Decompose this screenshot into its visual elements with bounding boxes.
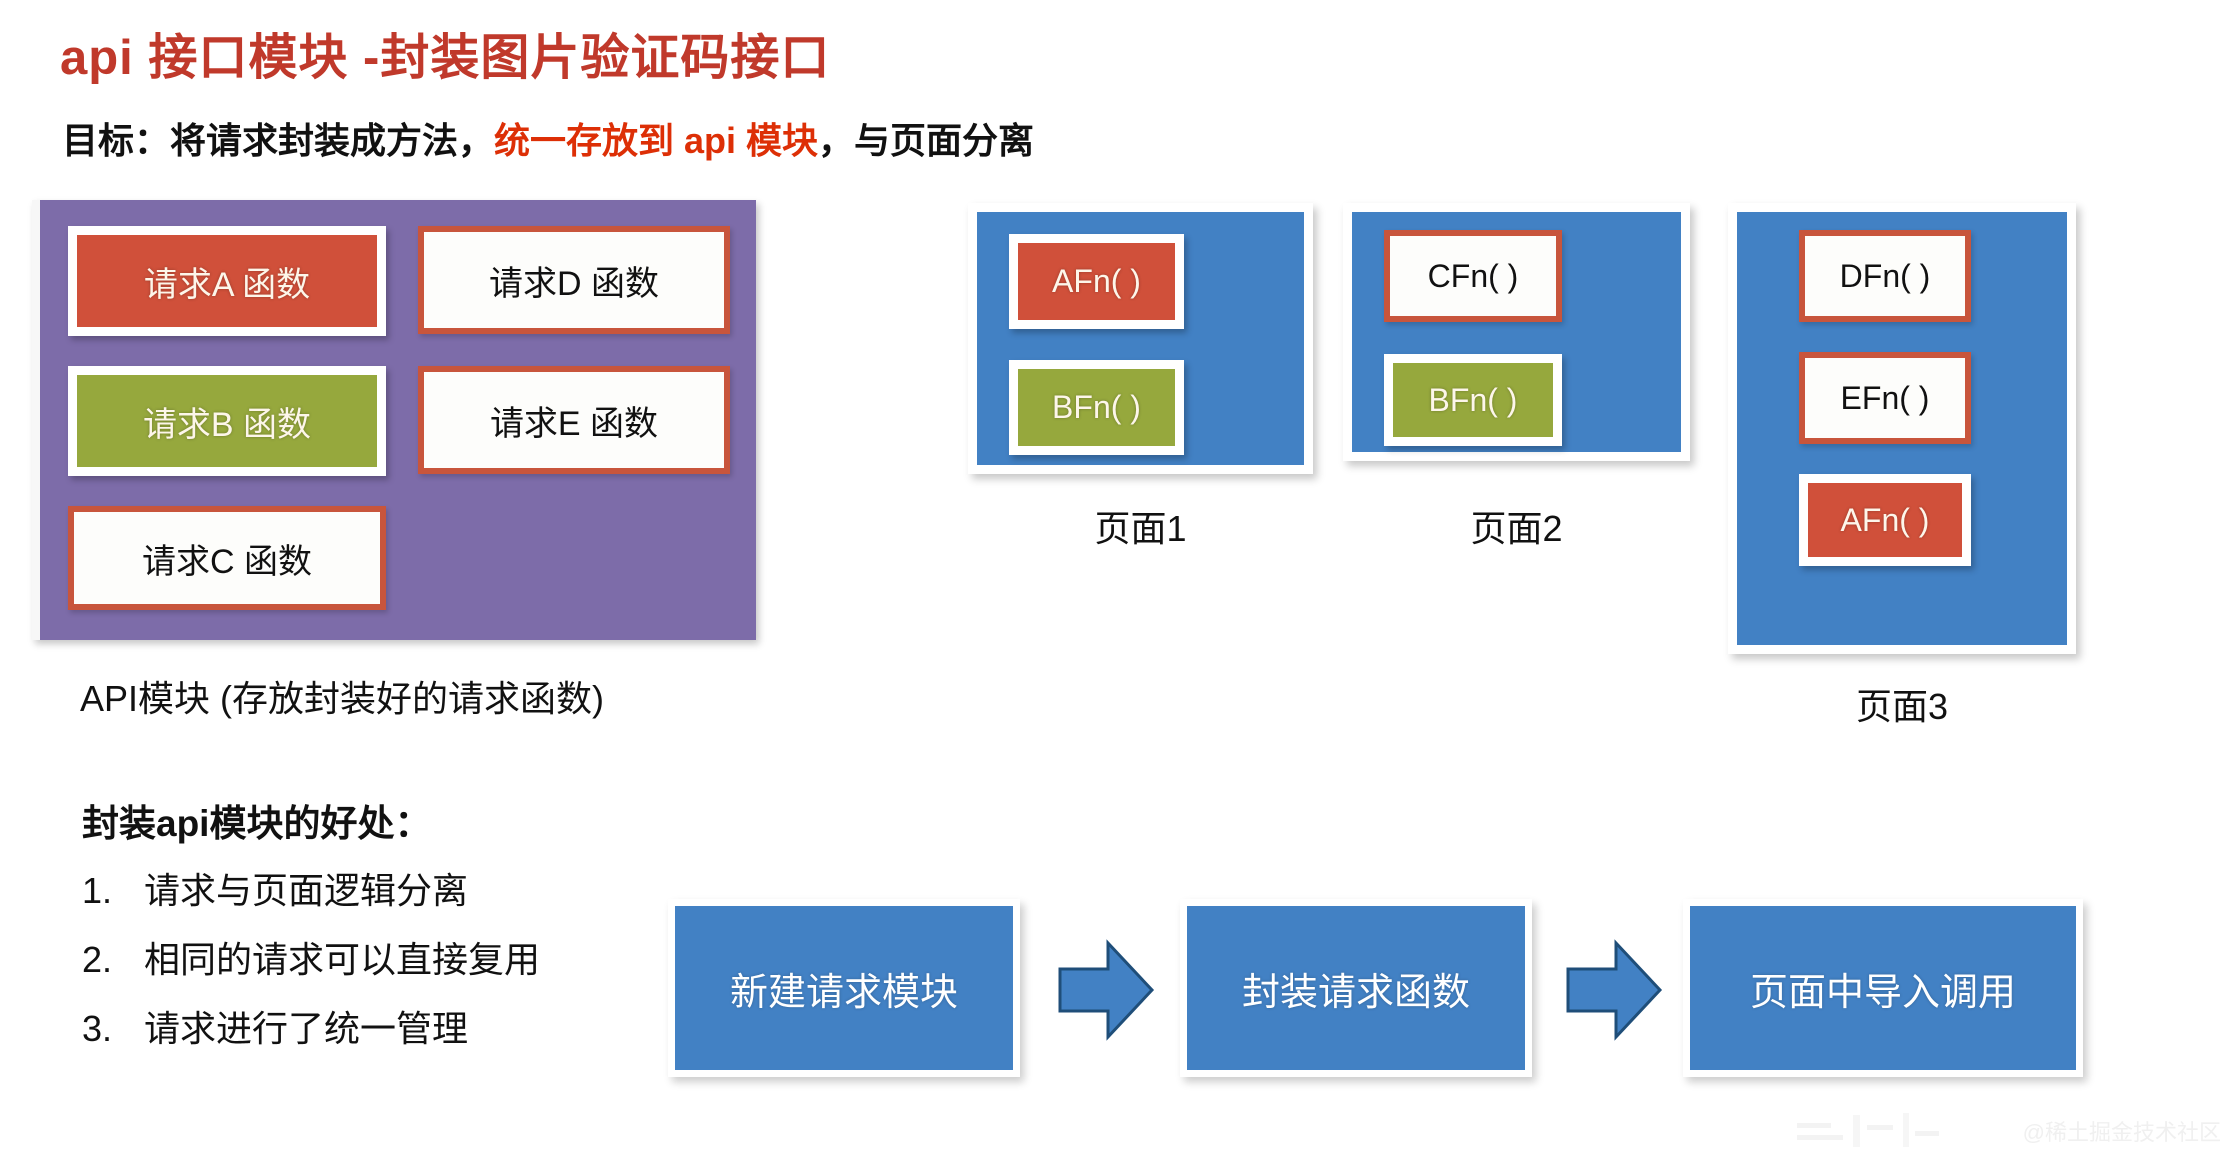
page-box-1: AFn( ) BFn( ) <box>968 203 1313 474</box>
page-function-label: DFn( ) <box>1840 258 1931 295</box>
api-module-caption: API模块 (存放封装好的请求函数) <box>80 670 604 722</box>
subtitle-accent: 统一存放到 api 模块 <box>494 120 818 161</box>
list-item-text: 请求与页面逻辑分离 <box>144 862 468 914</box>
benefits-list: 1. 请求与页面逻辑分离 2. 相同的请求可以直接复用 3. 请求进行了统一管理 <box>82 862 722 1069</box>
flow-step-3: 页面中导入调用 <box>1683 899 2083 1077</box>
subtitle-suffix: ，与页面分离 <box>818 120 1034 161</box>
page1-function-box-bfn: BFn( ) <box>1009 360 1184 455</box>
api-function-label: 请求C 函数 <box>142 534 312 583</box>
page-function-label: BFn( ) <box>1429 382 1518 419</box>
page3-function-box-dfn: DFn( ) <box>1799 230 1971 322</box>
page2-function-box-bfn: BFn( ) <box>1384 354 1562 446</box>
arrow-right-icon <box>1564 935 1664 1045</box>
list-item-text: 请求进行了统一管理 <box>144 1000 468 1052</box>
list-item-number: 3. <box>82 1008 144 1050</box>
list-item: 2. 相同的请求可以直接复用 <box>82 931 722 1000</box>
page2-function-box-cfn: CFn( ) <box>1384 230 1562 322</box>
api-function-box-a: 请求A 函数 <box>68 226 386 336</box>
subtitle-prefix: 目标：将请求封装成方法， <box>62 120 494 161</box>
page1-function-box-afn: AFn( ) <box>1009 234 1184 329</box>
page-function-label: EFn( ) <box>1841 380 1930 417</box>
benefits-heading: 封装api模块的好处： <box>82 793 431 847</box>
page-title: api 接口模块 -封装图片验证码接口 <box>60 18 830 89</box>
api-module-container: 请求A 函数 请求B 函数 请求C 函数 请求D 函数 请求E 函数 <box>32 200 756 640</box>
api-function-label: 请求B 函数 <box>143 397 311 446</box>
page-function-label: AFn( ) <box>1052 263 1141 300</box>
page3-function-box-efn: EFn( ) <box>1799 352 1971 444</box>
page-label-2: 页面2 <box>1343 500 1690 552</box>
flow-step-label: 页面中导入调用 <box>1750 961 2016 1016</box>
list-item: 3. 请求进行了统一管理 <box>82 1000 722 1069</box>
flow-step-1: 新建请求模块 <box>668 899 1020 1077</box>
page-box-3: DFn( ) EFn( ) AFn( ) <box>1728 203 2076 654</box>
watermark-text: @稀土掘金技术社区 <box>2023 1115 2221 1147</box>
list-item-number: 1. <box>82 870 144 912</box>
list-item: 1. 请求与页面逻辑分离 <box>82 862 722 931</box>
page3-function-box-afn: AFn( ) <box>1799 474 1971 566</box>
watermark-logo-icon <box>1795 1109 1945 1151</box>
api-function-box-b: 请求B 函数 <box>68 366 386 476</box>
flow-step-label: 新建请求模块 <box>730 961 958 1016</box>
page-function-label: AFn( ) <box>1841 502 1930 539</box>
page-subtitle: 目标：将请求封装成方法，统一存放到 api 模块，与页面分离 <box>62 112 1034 164</box>
api-function-label: 请求D 函数 <box>489 256 659 305</box>
page-function-label: BFn( ) <box>1052 389 1141 426</box>
api-function-box-e: 请求E 函数 <box>418 366 730 474</box>
arrow-right-icon <box>1056 935 1156 1045</box>
flow-step-2: 封装请求函数 <box>1180 899 1532 1077</box>
list-item-text: 相同的请求可以直接复用 <box>144 931 540 983</box>
api-function-label: 请求A 函数 <box>144 257 310 306</box>
page-label-1: 页面1 <box>968 500 1313 552</box>
api-function-label: 请求E 函数 <box>490 396 658 445</box>
page-box-2: CFn( ) BFn( ) <box>1343 203 1690 461</box>
page-label-3: 页面3 <box>1728 678 2076 730</box>
flow-step-label: 封装请求函数 <box>1242 961 1470 1016</box>
api-function-box-d: 请求D 函数 <box>418 226 730 334</box>
page-function-label: CFn( ) <box>1428 258 1519 295</box>
list-item-number: 2. <box>82 939 144 981</box>
api-function-box-c: 请求C 函数 <box>68 506 386 610</box>
